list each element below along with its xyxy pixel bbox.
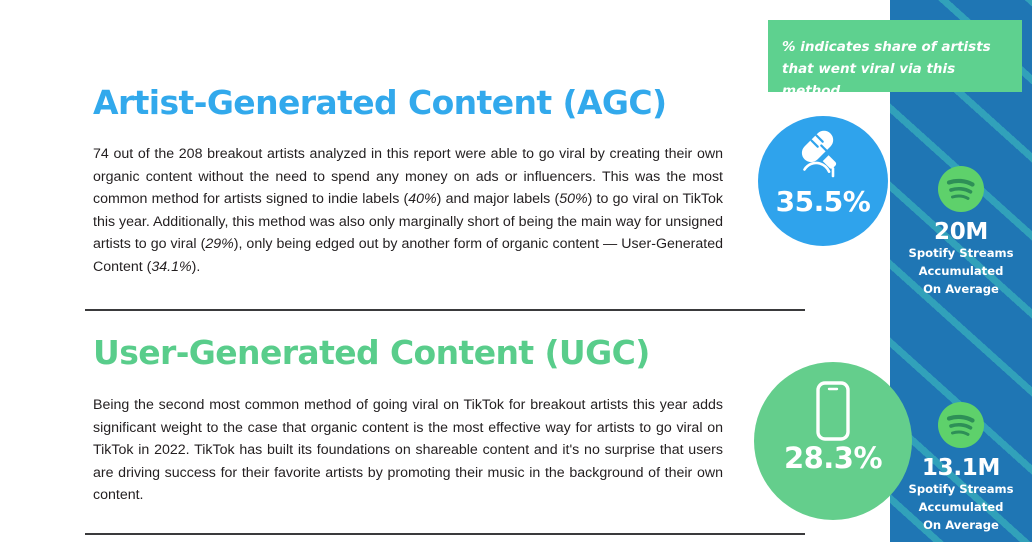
smartphone-icon [811,362,855,442]
agc-percent-value: 35.5% [776,188,871,216]
section-divider [85,309,805,311]
ugc-spotify-streams-caption: Spotify Streams Accumulated On Average [908,480,1013,534]
agc-stat-circle: 35.5% [758,116,888,246]
ugc-stat-circle: 28.3% [754,362,912,520]
ugc-spotify-streams-value: 13.1M [922,456,1000,480]
page-title: Artist-Generated Content (AGC) [93,83,666,122]
agc-stat-major-labels: 50% [559,191,587,207]
legend-callout-text: % indicates share of artists that went v… [782,36,1006,102]
ugc-percent-value: 28.3% [784,444,882,473]
agc-spotify-streams-value: 20M [934,220,988,244]
agc-stat-ugc: 34.1% [151,259,191,275]
legend-callout-box: % indicates share of artists that went v… [768,20,1022,92]
ugc-spotify-stat-block: 13.1M Spotify Streams Accumulated On Ave… [890,402,1032,534]
spotify-logo-icon [938,402,984,453]
ugc-section-title: User-Generated Content (UGC) [93,333,650,372]
microphone-icon [792,116,854,186]
spotify-logo-icon [938,166,984,217]
agc-stat-unsigned: 29% [205,236,233,252]
agc-spotify-streams-caption: Spotify Streams Accumulated On Average [908,244,1013,298]
section-divider-bottom [85,533,805,535]
agc-spotify-stat-block: 20M Spotify Streams Accumulated On Avera… [890,166,1032,298]
ugc-body-paragraph: Being the second most common method of g… [93,394,723,507]
agc-text-mid-1: ) and major labels ( [437,191,560,207]
agc-stat-indie-labels: 40% [408,191,436,207]
agc-body-paragraph: 74 out of the 208 breakout artists analy… [93,143,723,279]
agc-text-suffix: ). [192,259,201,275]
